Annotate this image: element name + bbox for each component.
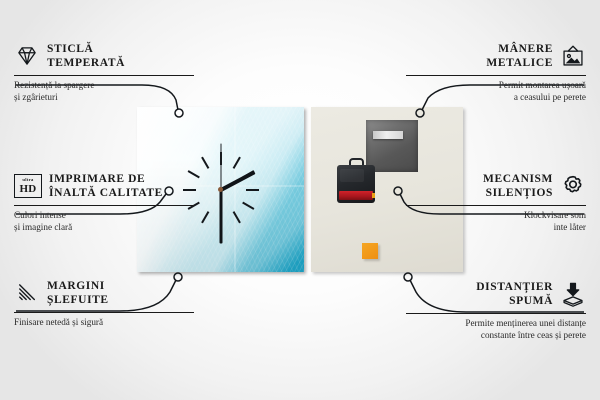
callout-divider	[406, 75, 586, 76]
callout-description: Permit montarea ușoară a ceasului pe per…	[406, 80, 586, 104]
callout-description: Rezistență la spargere și zgârieturi	[14, 80, 194, 104]
callout-mecanism-silentios: MECANISM SILENȚIOS Klockvisare som inte …	[406, 172, 586, 234]
callout-header: MECANISM SILENȚIOS	[406, 172, 586, 201]
callout-header: MARGINI ȘLEFUITE	[14, 279, 194, 308]
callout-sticla-temperata: STICLĂ TEMPERATĂ Rezistență la spargere …	[14, 42, 194, 104]
callout-divider	[14, 312, 194, 313]
callout-title: MARGINI ȘLEFUITE	[47, 279, 109, 308]
picture-frame-hanger-icon	[560, 43, 586, 69]
callout-title: DISTANȚIER SPUMĂ	[476, 280, 553, 309]
ultra-hd-icon: ultra HD	[14, 174, 42, 198]
ultra-hd-icon-main-text: HD	[19, 184, 36, 195]
callout-manere-metalice: MÂNERE METALICE Permit montarea ușoară a…	[406, 42, 586, 104]
callout-title: MÂNERE METALICE	[486, 42, 553, 71]
foam-spacer-part	[362, 243, 378, 259]
callout-title: MECANISM SILENȚIOS	[483, 172, 553, 201]
clock-minute-hand	[219, 190, 222, 244]
clock-mechanism-part	[337, 165, 375, 203]
battery-part	[339, 191, 373, 200]
callout-divider	[14, 205, 194, 206]
callout-description: Culori intense și imagine clară	[14, 210, 194, 234]
callout-distantier-spuma: DISTANȚIER SPUMĂ Permite menținerea unei…	[406, 280, 586, 342]
callout-description: Finisare netedă și sigură	[14, 317, 194, 329]
callout-margini-slefuite: MARGINI ȘLEFUITE Finisare netedă și sigu…	[14, 279, 194, 329]
callout-title: IMPRIMARE DE ÎNALTĂ CALITATE	[49, 172, 163, 201]
clock-center-hub	[218, 187, 223, 192]
callout-description: Klockvisare som inte låter	[406, 210, 586, 234]
callout-header: STICLĂ TEMPERATĂ	[14, 42, 194, 71]
callout-header: ultra HD IMPRIMARE DE ÎNALTĂ CALITATE	[14, 172, 194, 201]
callout-header: DISTANȚIER SPUMĂ	[406, 280, 586, 309]
gear-icon	[560, 173, 586, 199]
callout-header: MÂNERE METALICE	[406, 42, 586, 71]
callout-title: STICLĂ TEMPERATĂ	[47, 42, 125, 71]
callout-divider	[14, 75, 194, 76]
diamond-icon	[14, 43, 40, 69]
clock-second-hand	[220, 144, 221, 190]
callout-divider	[406, 205, 586, 206]
foam-spacer-arrow-icon	[560, 281, 586, 307]
callout-divider	[406, 313, 586, 314]
mechanism-body	[337, 165, 375, 203]
callout-description: Permite menținerea unei distanțe constan…	[406, 318, 586, 342]
callout-imprimare-inalta-calitate: ultra HD IMPRIMARE DE ÎNALTĂ CALITATE Cu…	[14, 172, 194, 234]
polished-edges-icon	[14, 280, 40, 306]
